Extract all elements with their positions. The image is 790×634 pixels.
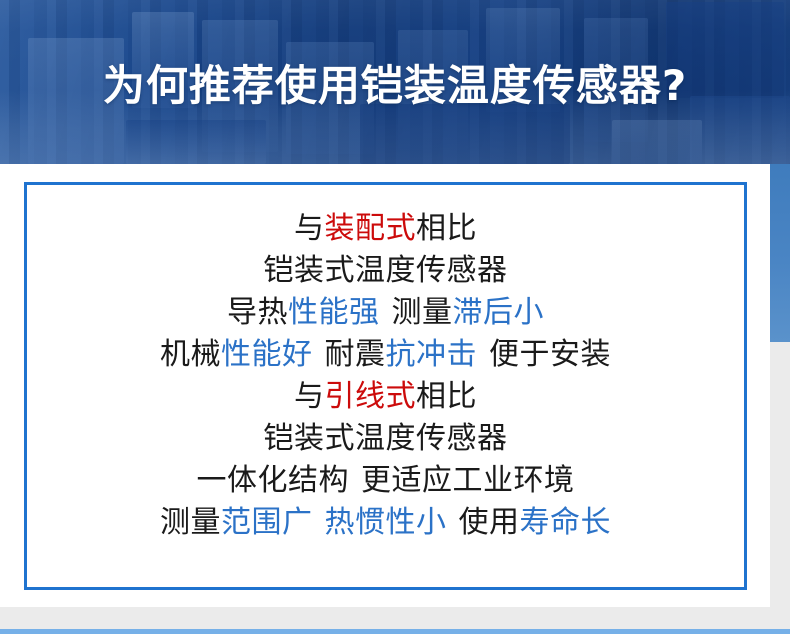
text-segment-blue: 热惯性小 bbox=[325, 505, 447, 540]
text-segment-blue: 寿命长 bbox=[520, 505, 612, 540]
text-segment-dark: 铠装式温度传感器 bbox=[264, 253, 508, 288]
banner-title: 为何推荐使用铠装温度传感器? bbox=[0, 0, 790, 164]
bottom-blue-bar bbox=[0, 629, 790, 634]
text-segment-dark: 相比 bbox=[416, 379, 477, 414]
feature-line: 一体化结构更适应工业环境 bbox=[197, 460, 575, 502]
feature-line: 与引线式相比 bbox=[294, 376, 477, 418]
text-segment-dark: 使用 bbox=[459, 505, 520, 540]
text-segment-dark: 相比 bbox=[416, 211, 477, 246]
text-segment-dark: 便于安装 bbox=[489, 337, 611, 372]
text-segment-dark: 测量 bbox=[160, 505, 221, 540]
text-segment-blue: 范围广 bbox=[221, 505, 313, 540]
product-detail-banner: 为何推荐使用铠装温度传感器? 与装配式相比铠装式温度传感器导热性能强测量滞后小机… bbox=[0, 0, 790, 634]
text-segment-dark: 与 bbox=[294, 211, 325, 246]
text-segment-dark: 一体化结构 bbox=[197, 463, 350, 498]
text-segment-dark: 测量 bbox=[392, 295, 453, 330]
right-gray-strip bbox=[770, 342, 790, 607]
feature-line: 测量范围广热惯性小使用寿命长 bbox=[160, 502, 611, 544]
text-segment-dark: 导热 bbox=[227, 295, 288, 330]
text-segment-red: 装配式 bbox=[325, 211, 417, 246]
text-segment-dark: 机械 bbox=[160, 337, 221, 372]
feature-line: 与装配式相比 bbox=[294, 208, 477, 250]
text-segment-red: 引线式 bbox=[325, 379, 417, 414]
hero-banner: 为何推荐使用铠装温度传感器? bbox=[0, 0, 790, 164]
feature-text-block: 与装配式相比铠装式温度传感器导热性能强测量滞后小机械性能好耐震抗冲击便于安装与引… bbox=[24, 196, 747, 576]
feature-line: 铠装式温度传感器 bbox=[264, 250, 508, 292]
text-segment-dark: 与 bbox=[294, 379, 325, 414]
feature-line: 机械性能好耐震抗冲击便于安装 bbox=[160, 334, 611, 376]
text-segment-blue: 性能好 bbox=[221, 337, 313, 372]
text-segment-dark: 铠装式温度传感器 bbox=[264, 421, 508, 456]
text-segment-blue: 抗冲击 bbox=[386, 337, 478, 372]
bottom-gray-bar bbox=[0, 607, 790, 629]
text-segment-blue: 性能强 bbox=[288, 295, 380, 330]
feature-line: 导热性能强测量滞后小 bbox=[227, 292, 544, 334]
text-segment-dark: 耐震 bbox=[325, 337, 386, 372]
text-segment-blue: 滞后小 bbox=[453, 295, 545, 330]
right-blue-accent-strip bbox=[770, 164, 790, 342]
text-segment-dark: 更适应工业环境 bbox=[361, 463, 575, 498]
feature-line: 铠装式温度传感器 bbox=[264, 418, 508, 460]
